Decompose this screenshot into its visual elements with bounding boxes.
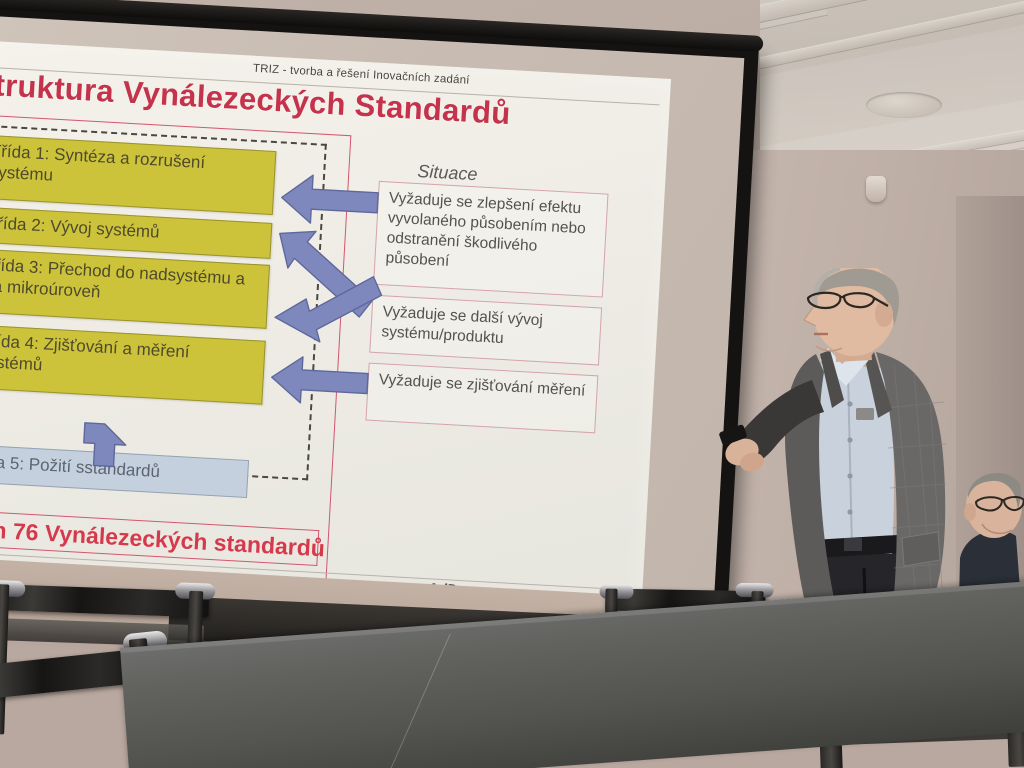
ceiling-speaker <box>866 92 942 118</box>
screenshot-root: TRIZ - tvorba a řešení Inovačních zadání… <box>0 0 1024 768</box>
arrow-situation3-to-class4 <box>270 355 368 406</box>
arrow-class5-up <box>83 423 127 467</box>
smoke-detector <box>866 176 886 202</box>
table-seam <box>389 634 450 768</box>
projected-slide: TRIZ - tvorba a řešení Inovačních zadání… <box>0 39 671 614</box>
arrow-situation1-to-class1 <box>280 174 379 227</box>
